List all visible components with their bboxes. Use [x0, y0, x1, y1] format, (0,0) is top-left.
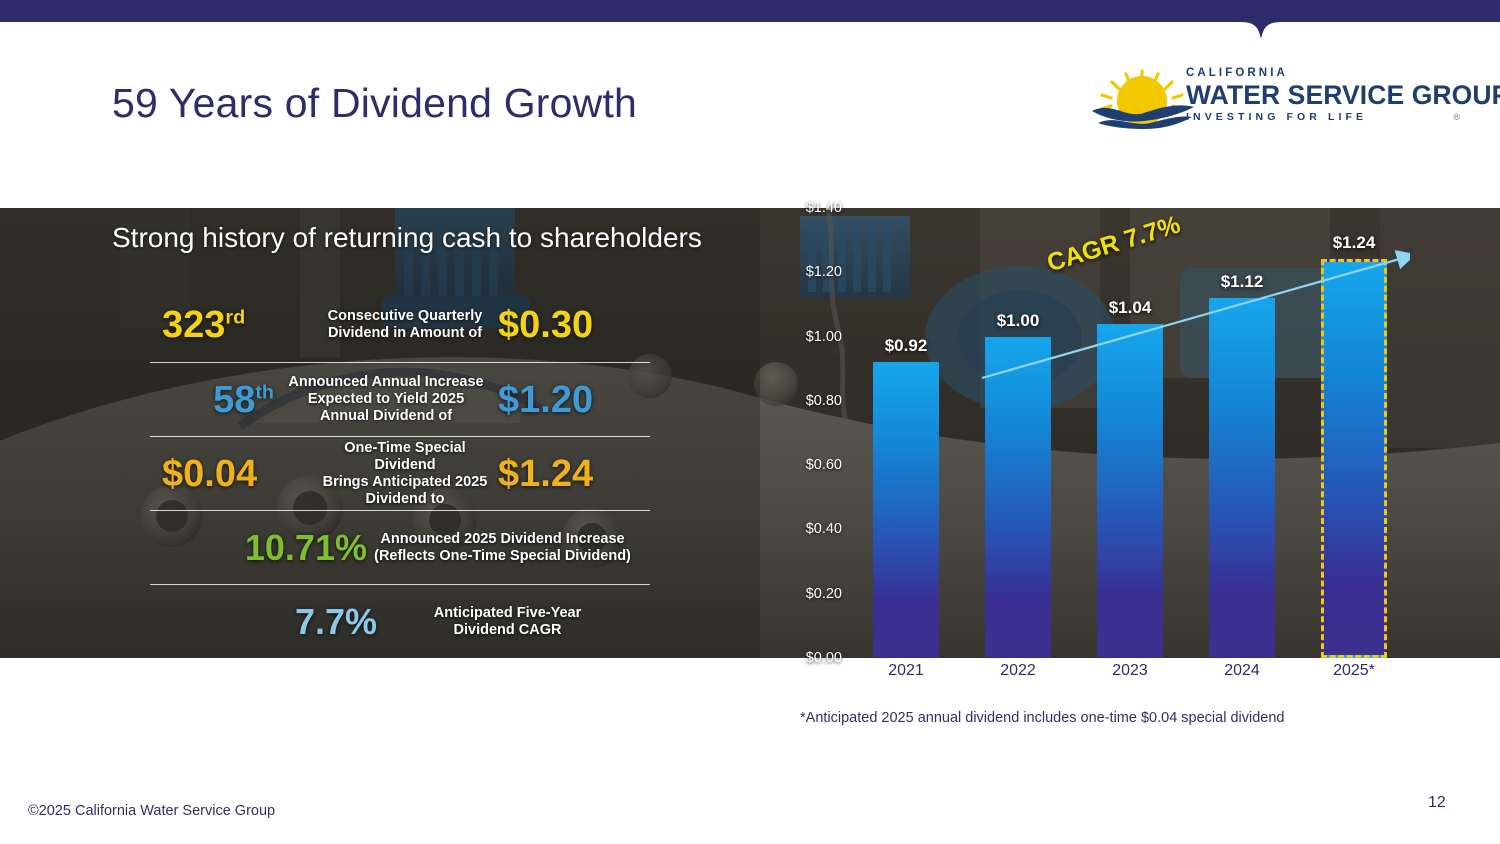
stat-description-line: Consecutive Quarterly [318, 308, 492, 325]
stat-description: Announced Annual Increase Expected to Yi… [274, 374, 498, 425]
stat-big-number: 7.7% [162, 604, 377, 640]
stat-row-consecutive-quarterly-dividend: 323rd Consecutive Quarterly Dividend in … [150, 288, 650, 362]
chart-footnote: *Anticipated 2025 annual dividend includ… [800, 710, 1284, 726]
stat-description: Consecutive Quarterly Dividend in Amount… [312, 308, 498, 342]
registered-trademark-icon: ® [1453, 112, 1460, 122]
stat-description-line: Dividend CAGR [383, 622, 632, 639]
stat-description-line: Anticipated Five-Year [383, 605, 632, 622]
stat-description-line: Brings Anticipated 2025 [318, 474, 492, 491]
chart-bar-value-label: $0.92 [885, 336, 928, 356]
stat-description-line: Announced 2025 Dividend Increase [373, 531, 632, 548]
stat-description-line: Dividend to [318, 491, 492, 508]
y-axis-tick-label: $1.00 [780, 329, 842, 345]
stat-description-line: Annual Dividend of [280, 408, 492, 425]
stat-value: $0.30 [498, 306, 638, 344]
chart-y-axis: $1.40$1.20$1.00$0.80$0.60$0.40$0.20$0.00 [780, 208, 842, 658]
stat-row-announced-annual-increase: 58th Announced Annual Increase Expected … [150, 362, 650, 436]
stat-big-number: 323rd [162, 306, 312, 344]
y-axis-tick-label: $0.40 [780, 521, 842, 537]
chart-bar-group: $0.92 [850, 208, 962, 658]
chart-bar-value-label: $1.12 [1221, 272, 1264, 292]
dividend-stats-list: 323rd Consecutive Quarterly Dividend in … [150, 288, 650, 658]
top-accent-bar [0, 0, 1500, 22]
stat-value: $1.20 [498, 381, 638, 419]
stat-big-number: 10.71% [162, 530, 367, 566]
company-logo: CALIFORNIA WATER SERVICE GROUP INVESTING… [1082, 63, 1452, 133]
section-subheading: Strong history of returning cash to shar… [112, 222, 702, 254]
y-axis-tick-label: $1.20 [780, 264, 842, 280]
logo-line-water-service-group: WATER SERVICE GROUP [1186, 80, 1454, 110]
logo-wordmark: CALIFORNIA WATER SERVICE GROUP INVESTING… [1186, 67, 1454, 124]
stat-big-number: 58th [162, 381, 274, 419]
stat-description-line: (Reflects One-Time Special Dividend) [373, 548, 632, 565]
y-axis-tick-label: $0.80 [780, 393, 842, 409]
stat-row-one-time-special-dividend: $0.04 One-Time Special Dividend Brings A… [150, 436, 650, 510]
stat-ordinal-suffix: th [255, 381, 274, 403]
page-title: 59 Years of Dividend Growth [112, 80, 637, 127]
stat-description: Announced 2025 Dividend Increase (Reflec… [367, 531, 638, 565]
stat-ordinal-suffix: rd [225, 306, 245, 328]
chart-bar-value-label: $1.00 [997, 311, 1040, 331]
y-axis-tick-label: $0.00 [780, 650, 842, 666]
chart-bar-group: $1.12 [1186, 208, 1298, 658]
stat-description-line: Announced Annual Increase [280, 374, 492, 391]
chart-plot-area: $0.92$1.00$1.04$1.12$1.24 [850, 208, 1410, 658]
chart-bar-2021[interactable] [873, 362, 939, 658]
chart-bar-group: $1.24 [1298, 208, 1410, 658]
chart-bar-2024[interactable] [1209, 298, 1275, 658]
sun-wave-logo-icon [1082, 67, 1202, 131]
stat-value: $1.24 [498, 455, 638, 493]
chart-bar-value-label: $1.24 [1333, 233, 1376, 253]
stat-description-line: Dividend in Amount of [318, 325, 492, 342]
chart-bar-value-label: $1.04 [1109, 298, 1152, 318]
logo-line-california: CALIFORNIA [1186, 67, 1454, 80]
copyright-notice: ©2025 California Water Service Group [28, 803, 275, 819]
page-number: 12 [1428, 794, 1446, 812]
stat-description-line: Expected to Yield 2025 [280, 391, 492, 408]
top-bar-notch-decoration [1238, 22, 1284, 40]
stat-description: One-Time Special Dividend Brings Anticip… [312, 440, 498, 508]
stat-description: Anticipated Five-Year Dividend CAGR [377, 605, 638, 639]
y-axis-tick-label: $0.20 [780, 586, 842, 602]
stat-row-anticipated-five-year-cagr: 7.7% Anticipated Five-Year Dividend CAGR [150, 584, 650, 658]
chart-bar-group: $1.04 [1074, 208, 1186, 658]
y-axis-tick-label: $0.60 [780, 457, 842, 473]
chart-bar-2023[interactable] [1097, 324, 1163, 658]
dividend-bar-chart: $1.40$1.20$1.00$0.80$0.60$0.40$0.20$0.00… [780, 208, 1420, 678]
chart-bar-2022[interactable] [985, 337, 1051, 658]
chart-bar-2025[interactable] [1321, 259, 1387, 658]
stat-description-line: One-Time Special Dividend [318, 440, 492, 474]
stat-big-number: $0.04 [162, 455, 312, 493]
stat-row-announced-2025-dividend-increase: 10.71% Announced 2025 Dividend Increase … [150, 510, 650, 584]
logo-line-tagline: INVESTING FOR LIFE [1186, 110, 1454, 124]
slide: 59 Years of Dividend Growth [0, 0, 1500, 844]
y-axis-tick-label: $1.40 [780, 200, 842, 216]
